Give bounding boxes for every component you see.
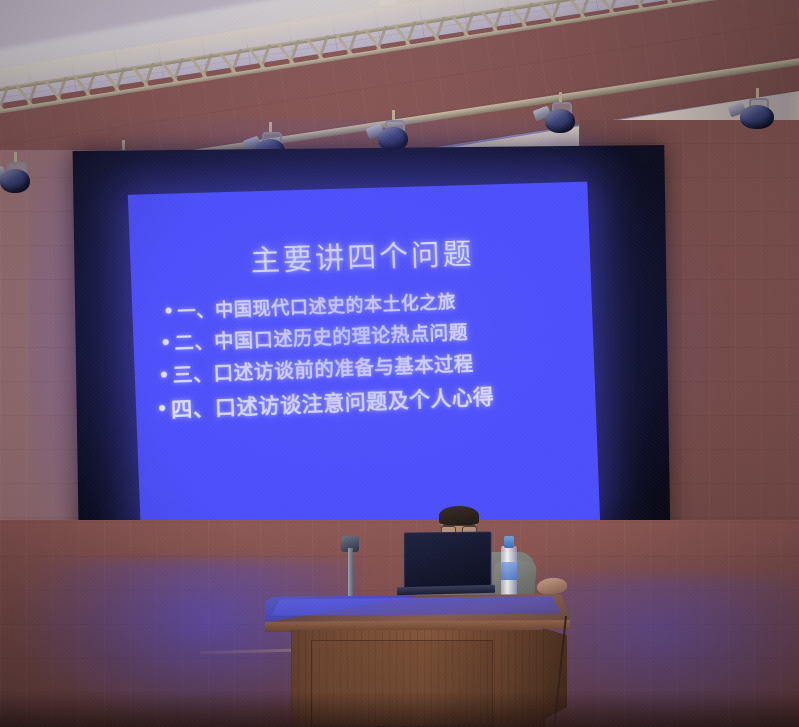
bullet-dot-icon: •	[163, 304, 178, 322]
stage-light-icon	[545, 92, 575, 136]
bottle-label	[501, 562, 517, 580]
projection-screen-frame: 主要讲四个问题 • 一、中国现代口述史的本土化之旅 • 二、中国口述历史的理论热…	[73, 145, 671, 559]
water-bottle-icon	[501, 536, 517, 598]
stage-light-body	[0, 169, 30, 193]
laptop-keyboard	[397, 585, 495, 596]
bullet-dot-icon: •	[156, 401, 171, 419]
speaker-hair	[439, 506, 479, 525]
microphone-stand	[348, 548, 353, 602]
stage-light-body	[545, 109, 575, 133]
slide-title: 主要讲四个问题	[130, 227, 591, 284]
projection-screen-surface[interactable]: 主要讲四个问题 • 一、中国现代口述史的本土化之旅 • 二、中国口述历史的理论热…	[128, 182, 600, 545]
lecture-hall-scene: 主要讲四个问题 • 一、中国现代口述史的本土化之旅 • 二、中国口述历史的理论热…	[0, 0, 799, 727]
stage-light-icon	[0, 152, 30, 196]
bottle-cap	[504, 536, 514, 548]
stage-light-body	[740, 105, 774, 129]
bullet-dot-icon: •	[158, 368, 173, 386]
laptop-screen	[404, 532, 492, 591]
bullet-dot-icon: •	[160, 335, 175, 353]
slide-bullet-list: • 一、中国现代口述史的本土化之旅 • 二、中国口述历史的理论热点问题 • 三、…	[152, 285, 586, 430]
foreground-shadow	[0, 691, 799, 727]
stage-light-icon	[740, 88, 774, 136]
laptop-icon[interactable]	[403, 532, 489, 594]
